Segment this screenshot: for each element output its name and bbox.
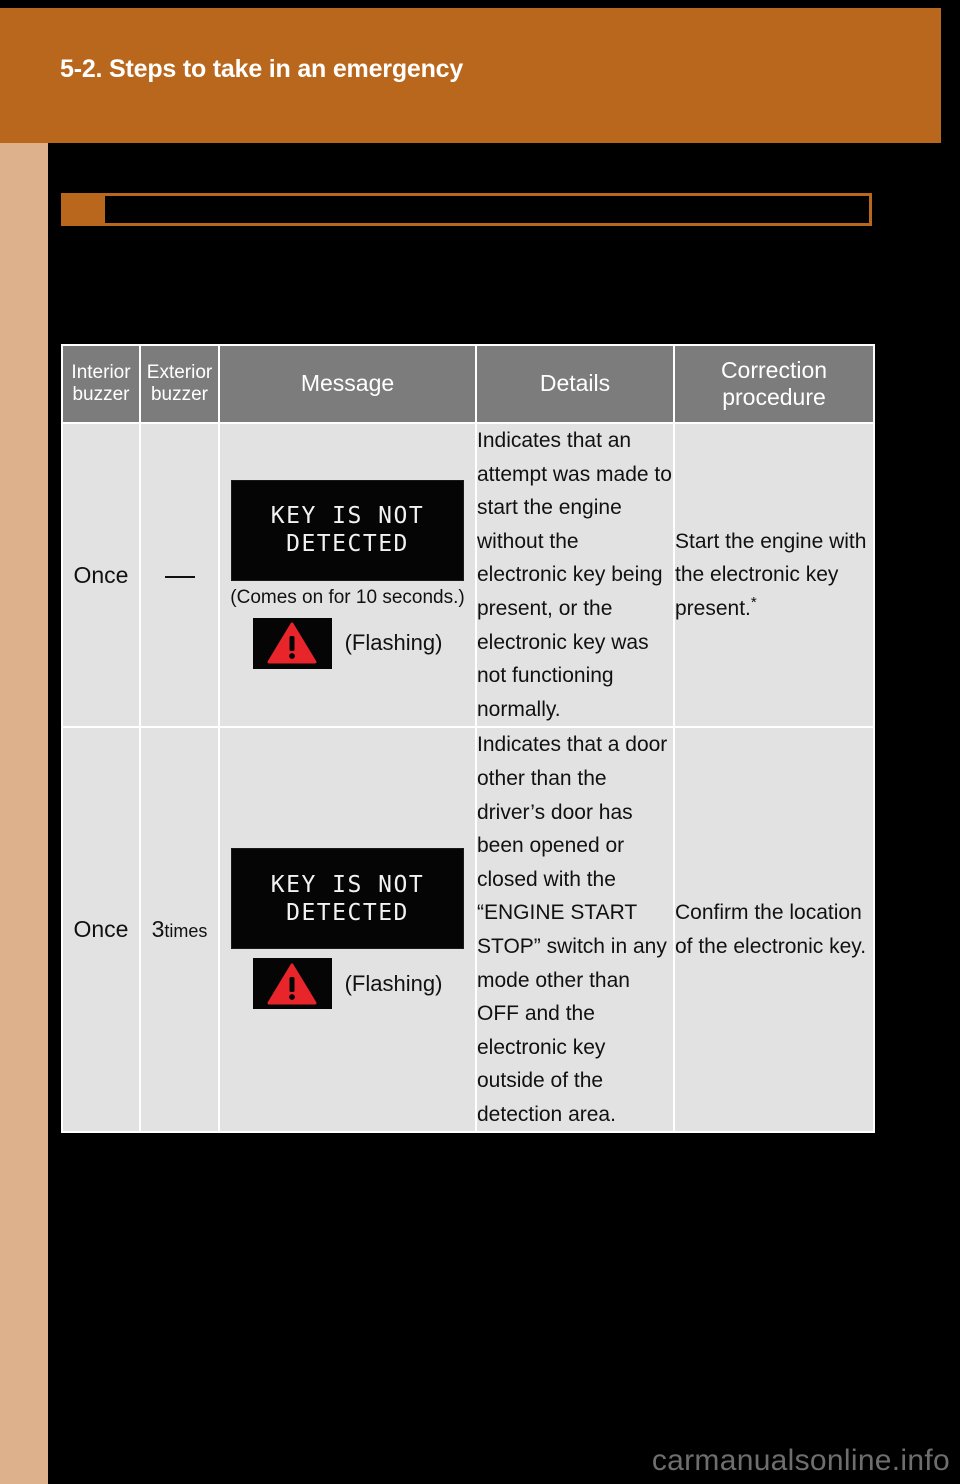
row2-exterior-count: 3 xyxy=(152,916,165,942)
section-caption-tab xyxy=(61,193,105,226)
row1-lcd-display: KEY IS NOT DETECTED xyxy=(231,480,464,581)
row2-lcd-line-1: KEY IS NOT xyxy=(271,871,424,899)
header-interior-buzzer-line1: Interior xyxy=(63,362,139,384)
header-interior-buzzer-line2: buzzer xyxy=(63,384,139,406)
row2-details: Indicates that a door other than the dri… xyxy=(476,727,674,1132)
row2-lcd-line-2: DETECTED xyxy=(286,899,409,927)
header-correction-procedure: Correction procedure xyxy=(674,345,874,423)
row1-details: Indicates that an attempt was made to st… xyxy=(476,423,674,727)
table-row: Once 3times KEY IS NOT DETECTED xyxy=(62,727,874,1132)
header-exterior-buzzer-line1: Exterior xyxy=(141,362,218,384)
warning-message-table-wrapper: Interior buzzer Exterior buzzer Message … xyxy=(61,344,873,1133)
page-title: 5-2. Steps to take in an emergency xyxy=(60,55,463,84)
side-tab-strip xyxy=(0,143,48,1484)
row2-warning-icon-box xyxy=(253,958,332,1009)
row2-correction-text: Confirm the location of the electronic k… xyxy=(675,901,866,958)
page-canvas: 5-2. Steps to take in an emergency Inter… xyxy=(0,0,960,1484)
row2-interior-buzzer: Once xyxy=(62,727,140,1132)
top-black-strip xyxy=(0,0,960,8)
row1-interior-buzzer: Once xyxy=(62,423,140,727)
header-correction-line1: Correction xyxy=(675,357,873,384)
header-exterior-buzzer: Exterior buzzer xyxy=(140,345,219,423)
row1-lcd-line-2: DETECTED xyxy=(286,530,409,558)
row1-correction-footnote: * xyxy=(751,594,757,611)
header-message: Message xyxy=(219,345,476,423)
row1-correction: Start the engine with the electronic key… xyxy=(674,423,874,727)
section-caption-box xyxy=(61,193,872,226)
header-message-line1: Message xyxy=(220,370,475,397)
table-row: Once KEY IS NOT DETECTED (Comes on for 1… xyxy=(62,423,874,727)
row1-warning-indicator: (Flashing) xyxy=(253,618,443,669)
table-header-row: Interior buzzer Exterior buzzer Message … xyxy=(62,345,874,423)
header-correction-line2: procedure xyxy=(675,384,873,411)
em-dash-icon xyxy=(165,576,195,578)
row1-exterior-buzzer xyxy=(140,423,219,727)
row2-exterior-unit: times xyxy=(164,921,207,941)
row1-lcd-note: (Comes on for 10 seconds.) xyxy=(230,587,464,609)
row2-warning-indicator: (Flashing) xyxy=(253,958,443,1009)
warning-triangle-icon xyxy=(267,622,317,664)
row1-lcd-line-1: KEY IS NOT xyxy=(271,502,424,530)
header-details: Details xyxy=(476,345,674,423)
header-details-line1: Details xyxy=(477,370,673,397)
header-exterior-buzzer-line2: buzzer xyxy=(141,384,218,406)
row1-flashing-label: (Flashing) xyxy=(345,630,443,656)
row1-warning-icon-box xyxy=(253,618,332,669)
site-watermark: carmanualsonline.info xyxy=(652,1444,950,1478)
row2-exterior-buzzer: 3times xyxy=(140,727,219,1132)
row1-message: KEY IS NOT DETECTED (Comes on for 10 sec… xyxy=(219,423,476,727)
row2-correction: Confirm the location of the electronic k… xyxy=(674,727,874,1132)
warning-message-table: Interior buzzer Exterior buzzer Message … xyxy=(61,344,875,1133)
row1-correction-text: Start the engine with the electronic key… xyxy=(675,530,866,620)
row2-lcd-display: KEY IS NOT DETECTED xyxy=(231,848,464,949)
row2-message: KEY IS NOT DETECTED xyxy=(219,727,476,1132)
row2-flashing-label: (Flashing) xyxy=(345,971,443,997)
warning-triangle-icon xyxy=(267,963,317,1005)
header-interior-buzzer: Interior buzzer xyxy=(62,345,140,423)
